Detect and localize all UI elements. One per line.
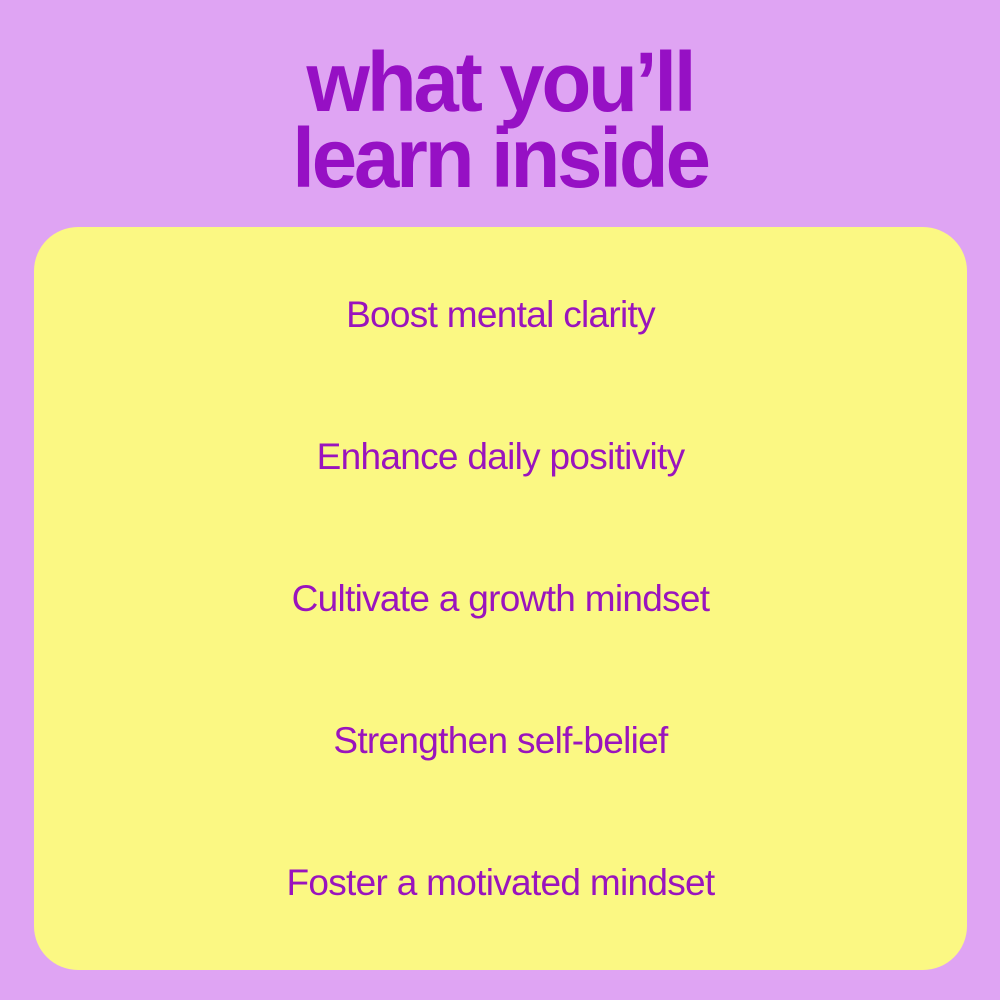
list-item: Foster a motivated mindset bbox=[34, 812, 967, 954]
list-item: Cultivate a growth mindset bbox=[34, 528, 967, 670]
poster-canvas: what you’ll learn inside Boost mental cl… bbox=[0, 0, 1000, 1000]
list-item: Strengthen self-belief bbox=[34, 670, 967, 812]
benefits-card: Boost mental clarity Enhance daily posit… bbox=[34, 227, 967, 970]
list-item: Enhance daily positivity bbox=[34, 386, 967, 528]
page-title-line-2: learn inside bbox=[15, 120, 985, 196]
page-title-line-1: what you’ll bbox=[15, 44, 985, 120]
list-item: Boost mental clarity bbox=[34, 244, 967, 386]
page-title: what you’ll learn inside bbox=[15, 44, 985, 196]
benefits-list: Boost mental clarity Enhance daily posit… bbox=[34, 227, 967, 970]
